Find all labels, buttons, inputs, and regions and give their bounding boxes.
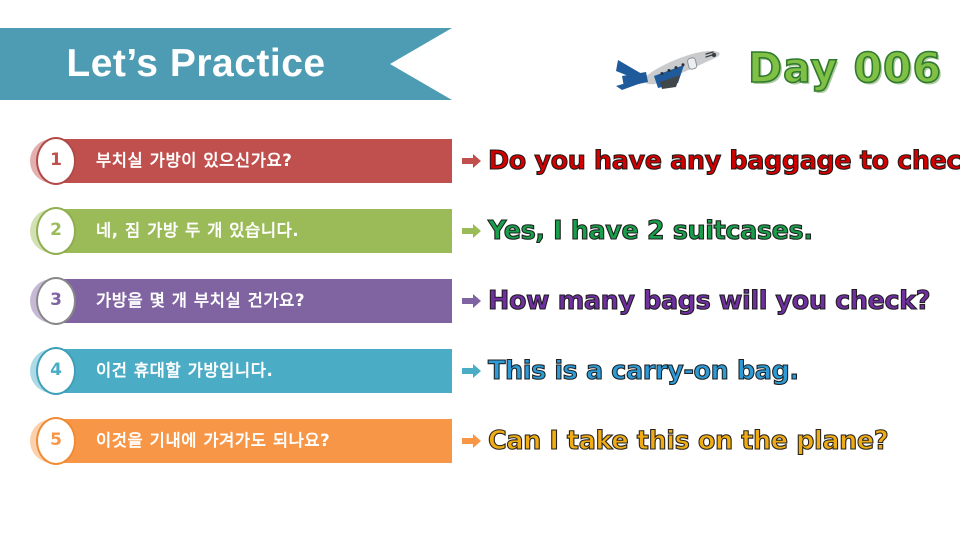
practice-rows: 부치실 가방이 있으신가요? 1 Do you have any baggage… <box>0 138 960 478</box>
english-text: This is a carry-on bag. <box>488 348 799 394</box>
korean-phrase-bar: 네, 짐 가방 두 개 있습니다. 2 <box>30 208 452 254</box>
practice-row: 네, 짐 가방 두 개 있습니다. 2 Yes, I have 2 suitca… <box>0 208 960 254</box>
practice-banner: Let’s Practice <box>0 28 452 100</box>
korean-phrase-bar: 이것을 기내에 가겨가도 되나요? 5 <box>30 418 452 464</box>
english-text: Do you have any baggage to check? <box>488 138 960 184</box>
english-text: Yes, I have 2 suitcases. <box>488 208 813 254</box>
arrow-right-icon <box>462 221 482 241</box>
header: Let’s Practice Day 006 <box>0 0 960 130</box>
korean-text: 이것을 기내에 가겨가도 되나요? <box>96 418 444 464</box>
practice-row: 이것을 기내에 가겨가도 되나요? 5 Can I take this on t… <box>0 418 960 464</box>
korean-text: 네, 짐 가방 두 개 있습니다. <box>96 208 444 254</box>
practice-row: 부치실 가방이 있으신가요? 1 Do you have any baggage… <box>0 138 960 184</box>
row-number-badge: 5 <box>36 417 76 465</box>
airplane-icon <box>614 38 730 100</box>
english-text: Can I take this on the plane? <box>488 418 888 464</box>
arrow-right-icon <box>462 431 482 451</box>
day-counter: Day 006 <box>748 40 948 96</box>
arrow-right-icon <box>462 291 482 311</box>
korean-phrase-bar: 가방을 몇 개 부치실 건가요? 3 <box>30 278 452 324</box>
practice-row: 가방을 몇 개 부치실 건가요? 3 How many bags will yo… <box>0 278 960 324</box>
page-title: Let’s Practice <box>0 28 392 100</box>
korean-phrase-bar: 이건 휴대할 가방입니다. 4 <box>30 348 452 394</box>
arrow-right-icon <box>462 361 482 381</box>
banner-notch-shape <box>390 28 452 100</box>
korean-text: 부치실 가방이 있으신가요? <box>96 138 444 184</box>
korean-phrase-bar: 부치실 가방이 있으신가요? 1 <box>30 138 452 184</box>
row-number-badge: 4 <box>36 347 76 395</box>
row-number-badge: 1 <box>36 137 76 185</box>
english-text: How many bags will you check? <box>488 278 930 324</box>
korean-text: 가방을 몇 개 부치실 건가요? <box>96 278 444 324</box>
row-number-badge: 3 <box>36 277 76 325</box>
korean-text: 이건 휴대할 가방입니다. <box>96 348 444 394</box>
row-number-badge: 2 <box>36 207 76 255</box>
practice-row: 이건 휴대할 가방입니다. 4 This is a carry-on bag. <box>0 348 960 394</box>
arrow-right-icon <box>462 151 482 171</box>
